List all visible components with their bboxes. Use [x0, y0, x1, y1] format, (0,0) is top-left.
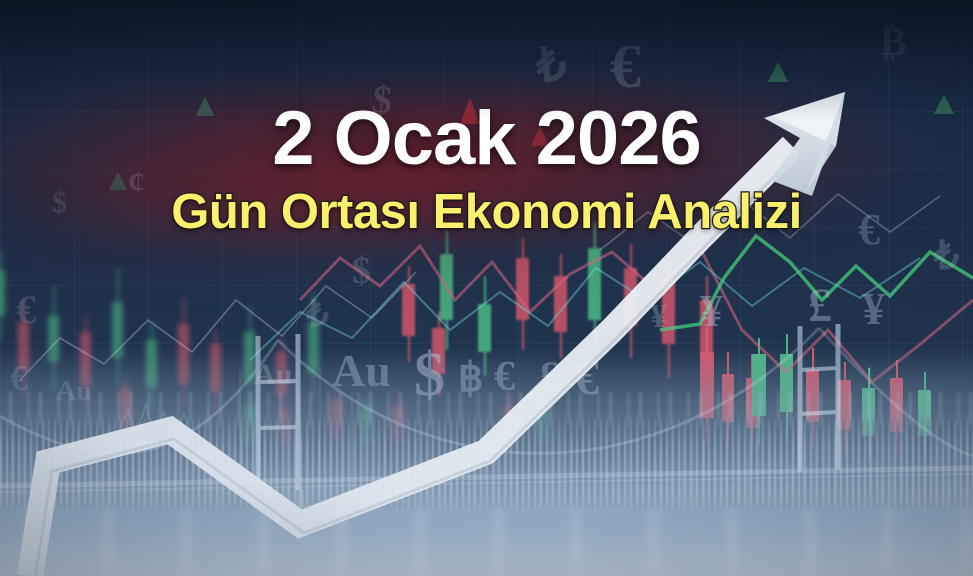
page-title: 2 Ocak 2026	[0, 101, 973, 177]
page-subtitle: Gün Ortası Ekonomi Analizi	[0, 188, 973, 237]
growth-arrow	[0, 0, 973, 576]
promo-banner: ₺ € $ $ ¢ Au Au $ ฿ € £ € ¥ £ ¥ € ₺ € € …	[0, 0, 973, 576]
